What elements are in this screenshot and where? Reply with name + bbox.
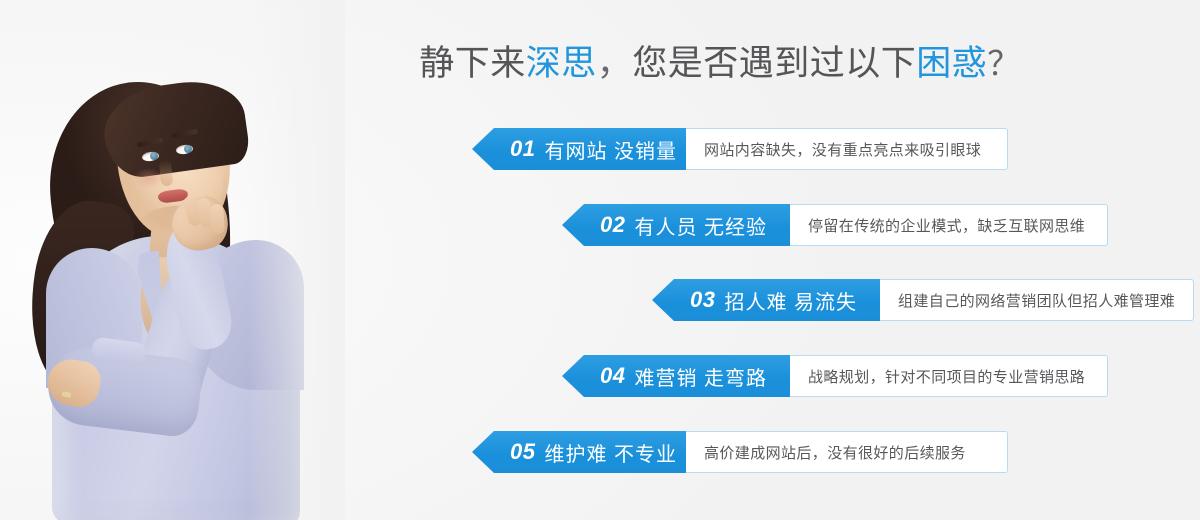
title-highlight-1: 深思 bbox=[526, 44, 597, 83]
problem-tag-label: 难营销 走弯路 bbox=[634, 362, 767, 391]
problem-tag-label: 招人难 易流失 bbox=[724, 286, 857, 315]
title-highlight-2: 困惑 bbox=[916, 44, 987, 83]
problem-tag-03[interactable]: 03招人难 易流失 bbox=[652, 279, 880, 321]
problem-row: 03招人难 易流失组建自己的网络营销团队但招人难管理难 bbox=[652, 279, 1194, 321]
problem-row: 04难营销 走弯路战略规划，针对不同项目的专业营销思路 bbox=[562, 355, 1108, 397]
problem-tag-04[interactable]: 04难营销 走弯路 bbox=[562, 355, 790, 397]
problem-tag-05[interactable]: 05维护难 不专业 bbox=[472, 431, 686, 473]
problem-number: 03 bbox=[690, 287, 715, 313]
problem-description: 组建自己的网络营销团队但招人难管理难 bbox=[880, 279, 1194, 321]
problem-description: 停留在传统的企业模式，缺乏互联网思维 bbox=[790, 204, 1108, 246]
problem-row: 01有网站 没销量网站内容缺失，没有重点亮点来吸引眼球 bbox=[472, 128, 1008, 170]
problem-tag-02[interactable]: 02有人员 无经验 bbox=[562, 204, 790, 246]
problem-number: 04 bbox=[600, 363, 625, 389]
problem-tag-label: 有人员 无经验 bbox=[634, 211, 767, 240]
banner-root: 静下来深思，您是否遇到过以下困惑？ 01有网站 没销量网站内容缺失，没有重点亮点… bbox=[0, 0, 1200, 520]
title-part-1: 静下来 bbox=[419, 44, 526, 83]
problem-row: 02有人员 无经验停留在传统的企业模式，缺乏互联网思维 bbox=[562, 204, 1108, 246]
problem-number: 02 bbox=[600, 212, 625, 238]
problem-tag-label: 有网站 没销量 bbox=[544, 135, 677, 164]
problem-description: 网站内容缺失，没有重点亮点来吸引眼球 bbox=[686, 128, 1008, 170]
title-part-2: 您是否遇到过以下 bbox=[632, 44, 916, 83]
problem-list: 01有网站 没销量网站内容缺失，没有重点亮点来吸引眼球02有人员 无经验停留在传… bbox=[0, 120, 1200, 500]
problem-tag-label: 维护难 不专业 bbox=[544, 438, 677, 467]
problem-description: 战略规划，针对不同项目的专业营销思路 bbox=[790, 355, 1108, 397]
problem-number: 01 bbox=[510, 136, 535, 162]
title-question-mark: ？ bbox=[987, 45, 1021, 82]
page-title: 静下来深思，您是否遇到过以下困惑？ bbox=[340, 40, 1100, 88]
problem-number: 05 bbox=[510, 439, 535, 465]
problem-tag-01[interactable]: 01有网站 没销量 bbox=[472, 128, 686, 170]
problem-description: 高价建成网站后，没有很好的后续服务 bbox=[686, 431, 1008, 473]
problem-row: 05维护难 不专业高价建成网站后，没有很好的后续服务 bbox=[472, 431, 1008, 473]
title-comma: ， bbox=[597, 44, 633, 83]
